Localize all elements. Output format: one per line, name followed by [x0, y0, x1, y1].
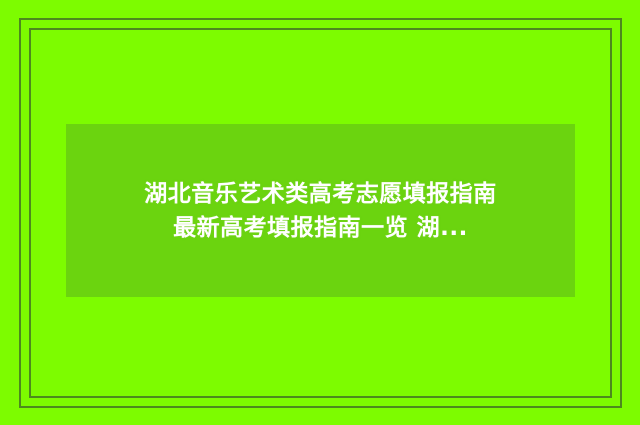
caption-panel: 湖北音乐艺术类高考志愿填报指南 最新高考填报指南一览 湖...	[66, 124, 575, 297]
caption-line-1: 湖北音乐艺术类高考志愿填报指南	[66, 177, 575, 211]
placeholder-card: 湖北音乐艺术类高考志愿填报指南 最新高考填报指南一览 湖...	[0, 0, 640, 425]
caption-line-2: 最新高考填报指南一览 湖...	[66, 211, 575, 245]
